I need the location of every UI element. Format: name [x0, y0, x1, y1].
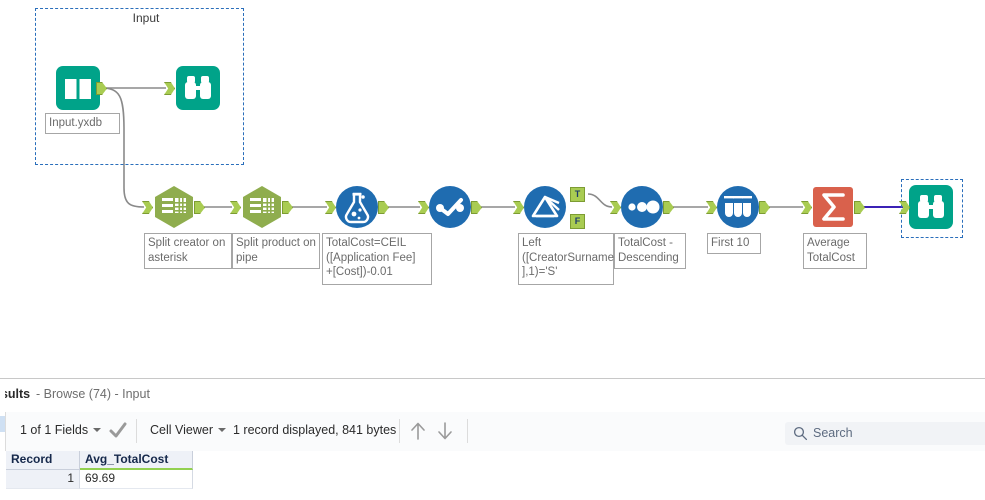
filter-icon [523, 185, 567, 229]
tool-text-to-columns-2[interactable] [240, 185, 284, 229]
cell-avg-totalcost: 69.69 [80, 470, 193, 489]
sample-icon [716, 185, 760, 229]
browse-icon [909, 185, 953, 229]
toolbar-divider [136, 419, 137, 443]
results-subtitle: - Browse (74) - Input [36, 387, 150, 401]
results-grid[interactable]: Record Avg_TotalCost 1 69.69 [0, 451, 985, 500]
container-title: Input [105, 11, 187, 25]
output-anchor-filter-true[interactable]: T [570, 187, 585, 202]
tool-browse-input[interactable] [176, 66, 220, 110]
results-header: esults - Browse (74) - Input [0, 379, 985, 413]
chevron-down-icon [93, 428, 101, 432]
output-anchor-filter-false[interactable]: F [570, 214, 585, 229]
workflow-canvas[interactable]: Input Input.yxdb [0, 0, 985, 378]
output-anchor-t2c-2[interactable] [282, 201, 293, 214]
output-anchor-sort-2[interactable] [663, 201, 674, 214]
tool-sort-1[interactable] [428, 185, 472, 229]
tool-filter[interactable] [523, 185, 567, 229]
browse-icon [176, 66, 220, 110]
tool-label-split-product: Split product on pipe [232, 233, 320, 269]
search-input[interactable]: Search [785, 422, 985, 445]
tool-input-data[interactable] [56, 66, 100, 110]
cell-viewer-selector[interactable]: Cell Viewer [150, 423, 226, 437]
select-icon [620, 185, 664, 229]
cell-viewer-label: Cell Viewer [150, 423, 213, 437]
cell-record: 1 [6, 470, 80, 489]
tool-label-summarize: Average TotalCost [803, 233, 867, 269]
tool-summarize[interactable] [811, 185, 855, 229]
input-data-icon [56, 66, 100, 110]
text-to-columns-icon [152, 185, 196, 229]
output-anchor-sample[interactable] [759, 201, 770, 214]
tool-label-split-creator: Split creator on asterisk [144, 233, 232, 269]
tool-label-sample: First 10 [707, 233, 761, 254]
tool-text-to-columns-1[interactable] [152, 185, 196, 229]
column-header-avg-totalcost[interactable]: Avg_TotalCost [80, 451, 193, 470]
table-row[interactable]: 1 69.69 [0, 470, 985, 489]
text-to-columns-icon [240, 185, 284, 229]
formula-icon [335, 185, 379, 229]
search-icon [793, 426, 808, 441]
tool-formula[interactable] [335, 185, 379, 229]
summarize-icon [811, 185, 855, 229]
toolbar-divider [467, 419, 468, 443]
tool-label-sort: TotalCost - Descending [614, 233, 686, 269]
output-anchor-summarize[interactable] [854, 201, 865, 214]
tool-sample[interactable] [716, 185, 760, 229]
tool-sort-2[interactable] [620, 185, 664, 229]
output-anchor-t2c-1[interactable] [194, 201, 205, 214]
arrow-down-icon[interactable] [435, 420, 455, 442]
arrow-up-icon[interactable] [408, 420, 428, 442]
tool-label-filter: Left ([CreatorSurname ],1)='S' [518, 233, 614, 285]
check-icon[interactable] [108, 420, 128, 440]
tool-browse-final[interactable] [909, 185, 953, 229]
tool-label-formula: TotalCost=CEIL ([Application Fee] +[Cost… [322, 233, 432, 285]
record-info: 1 record displayed, 841 bytes [233, 423, 396, 437]
output-anchor-formula[interactable] [378, 201, 389, 214]
chevron-down-icon [218, 428, 226, 432]
sort-icon [428, 185, 472, 229]
toolbar-divider [399, 419, 400, 443]
tool-label-input-data: Input.yxdb [45, 113, 120, 134]
column-header-record[interactable]: Record [6, 451, 80, 470]
search-placeholder: Search [813, 426, 853, 440]
fields-selector-label: 1 of 1 Fields [20, 423, 88, 437]
fields-selector[interactable]: 1 of 1 Fields [20, 423, 101, 437]
grid-header-row: Record Avg_TotalCost [0, 451, 985, 470]
output-anchor-sort-1[interactable] [471, 201, 482, 214]
